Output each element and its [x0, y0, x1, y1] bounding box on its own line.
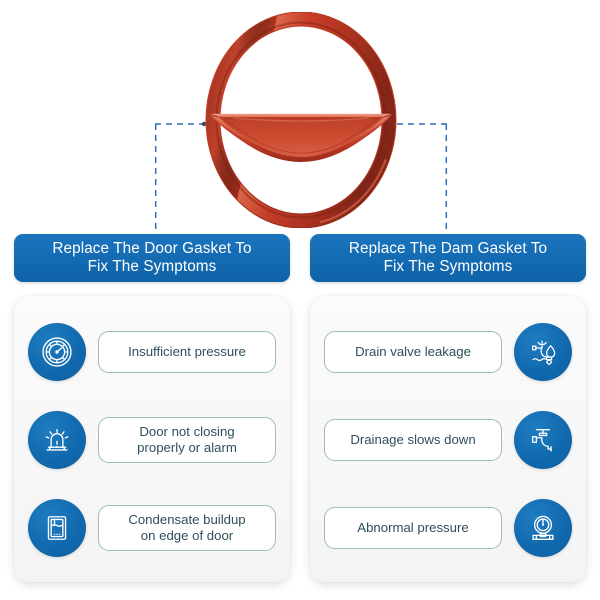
dripping-faucet-icon — [514, 411, 572, 469]
leaking-valve-icon — [514, 323, 572, 381]
dam-gasket-bowl — [210, 114, 392, 162]
symptom-pill: Drainage slows down — [324, 419, 502, 461]
symptom-pill: Condensate buildup on edge of door — [98, 505, 276, 551]
symptom-pill: Drain valve leakage — [324, 331, 502, 373]
alarm-beacon-icon — [28, 411, 86, 469]
symptom-pill: Door not closing properly or alarm — [98, 417, 276, 463]
symptom-text: Condensate buildup — [128, 512, 245, 527]
pressure-gauge-icon — [28, 323, 86, 381]
symptom-pill: Abnormal pressure — [324, 507, 502, 549]
header-right-dam-gasket: Replace The Dam Gasket To Fix The Sympto… — [310, 234, 586, 282]
header-left-door-gasket: Replace The Door Gasket To Fix The Sympt… — [14, 234, 290, 282]
hero-illustration — [0, 0, 600, 240]
symptom-row-condensate-buildup: Condensate buildup on edge of door — [14, 496, 290, 560]
symptom-text: Abnormal pressure — [357, 520, 468, 536]
door-condensate-icon — [28, 499, 86, 557]
symptom-text-line2: properly or alarm — [137, 440, 237, 455]
symptom-text: Door not closing — [139, 424, 234, 439]
symptom-row-drainage-slows-down: Drainage slows down — [310, 408, 586, 472]
panel-door-gasket-symptoms: Insufficient pressure Door not closing p… — [14, 296, 290, 582]
symptom-text: Drain valve leakage — [355, 344, 471, 360]
gasket-illustration — [203, 12, 399, 228]
symptom-text: Drainage slows down — [350, 432, 475, 448]
symptom-row-door-not-closing: Door not closing properly or alarm — [14, 408, 290, 472]
symptom-row-abnormal-pressure: Abnormal pressure — [310, 496, 586, 560]
symptom-text-line2: on edge of door — [141, 528, 233, 543]
symptom-pill: Insufficient pressure — [98, 331, 276, 373]
header-left-line2: Fix The Symptoms — [88, 258, 217, 275]
header-right-line1: Replace The Dam Gasket To — [349, 240, 547, 257]
header-right-line2: Fix The Symptoms — [384, 258, 513, 275]
header-left-line1: Replace The Door Gasket To — [52, 240, 251, 257]
symptom-text: Insufficient pressure — [128, 344, 246, 360]
symptom-row-insufficient-pressure: Insufficient pressure — [14, 320, 290, 384]
symptom-row-drain-valve-leakage: Drain valve leakage — [310, 320, 586, 384]
infographic-root: Replace The Door Gasket To Fix The Sympt… — [0, 0, 600, 600]
pipe-gauge-icon — [514, 499, 572, 557]
panel-dam-gasket-symptoms: Drain valve leakage Drainage slows down — [310, 296, 586, 582]
